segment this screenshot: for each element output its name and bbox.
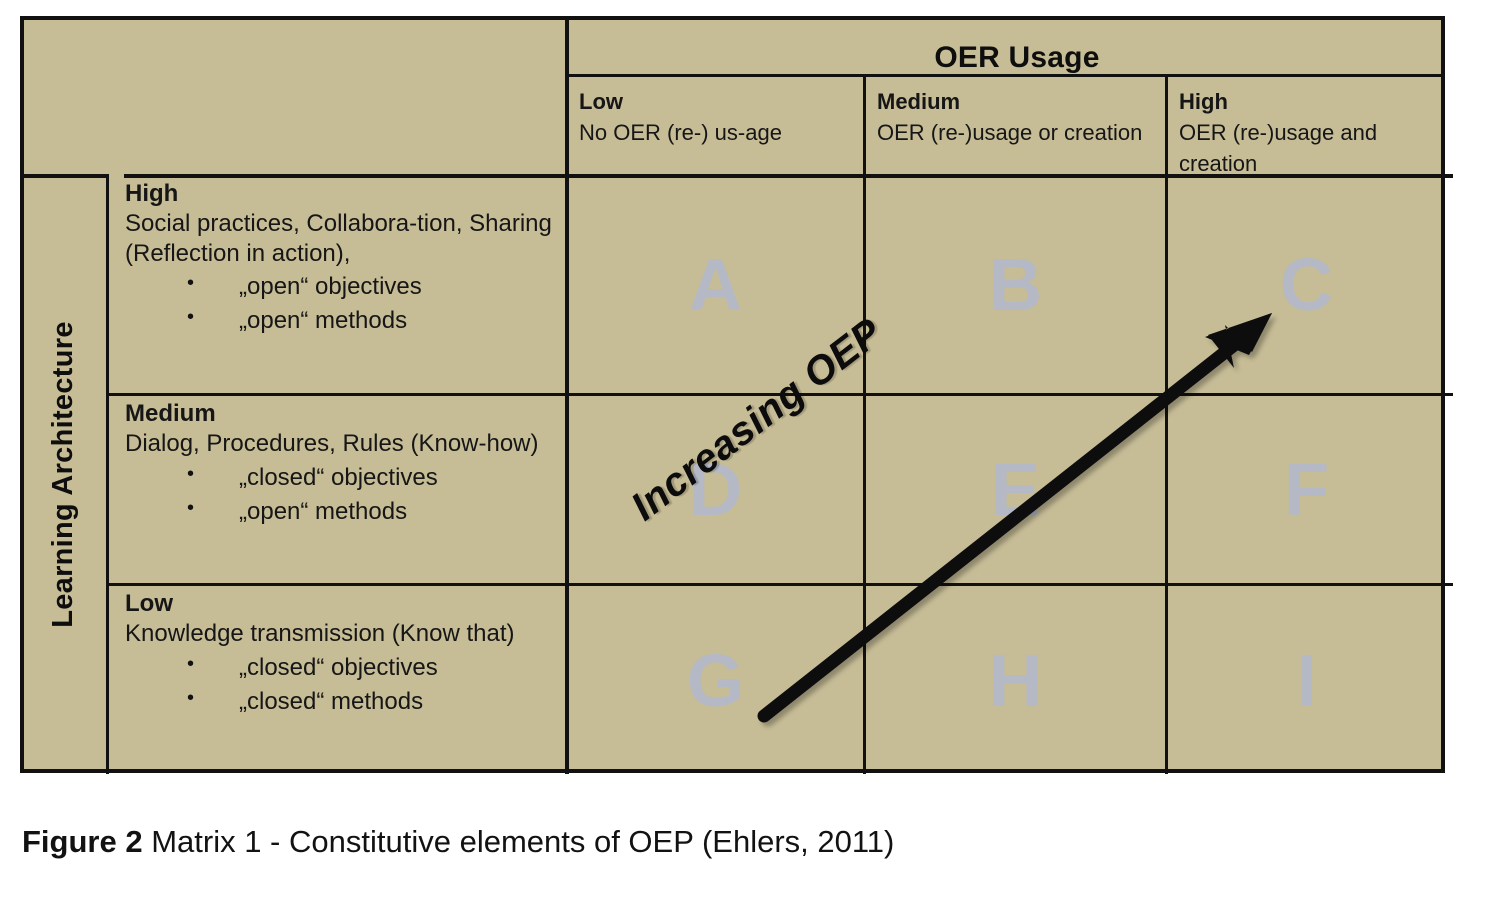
list-item: „open“ methods (187, 304, 559, 338)
row-header-medium-desc: Dialog, Procedures, Rules (Know-how) (125, 429, 559, 459)
column-header-medium: Medium OER (re-)usage or creation (867, 82, 1165, 188)
matrix-cell-F: F (1168, 396, 1445, 583)
list-item: „closed“ objectives (187, 461, 559, 495)
row-header-medium: Medium Dialog, Procedures, Rules (Know-h… (109, 396, 565, 529)
matrix-cell-C: C (1168, 176, 1445, 393)
rule-under-axis-title (565, 74, 1445, 77)
column-header-low-title: Low (579, 86, 858, 117)
list-item: „closed“ objectives (187, 651, 559, 685)
column-header-medium-title: Medium (877, 86, 1157, 117)
figure-caption-label: Figure 2 (22, 824, 143, 859)
row-header-high: High Social practices, Collabora-tion, S… (109, 176, 565, 338)
row-header-medium-bullets: „closed“ objectives „open“ methods (125, 461, 559, 529)
matrix-cell-G: G (568, 586, 863, 774)
figure-container: OER Usage Low No OER (re-) us-age Medium… (0, 0, 1488, 904)
row-header-high-title: High (125, 179, 559, 209)
row-header-low-desc: Knowledge transmission (Know that) (125, 619, 559, 649)
row-header-medium-title: Medium (125, 399, 559, 429)
figure-caption: Figure 2 Matrix 1 - Constitutive element… (22, 824, 894, 860)
column-header-high-desc: OER (re-)usage and creation (1179, 117, 1433, 179)
row-header-low: Low Knowledge transmission (Know that) „… (109, 586, 565, 719)
column-header-medium-desc: OER (re-)usage or creation (877, 117, 1157, 148)
column-header-high-title: High (1179, 86, 1433, 117)
column-header-high: High OER (re-)usage and creation (1169, 82, 1441, 188)
list-item: „open“ objectives (187, 270, 559, 304)
row-header-low-title: Low (125, 589, 559, 619)
column-axis-title: OER Usage (589, 38, 1445, 78)
column-header-low-desc: No OER (re-) us-age (579, 117, 858, 148)
oep-matrix-table: OER Usage Low No OER (re-) us-age Medium… (20, 16, 1445, 773)
row-header-high-desc: Social practices, Collabora-tion, Sharin… (125, 209, 559, 269)
list-item: „closed“ methods (187, 685, 559, 719)
row-header-low-bullets: „closed“ objectives „closed“ methods (125, 651, 559, 719)
row-axis-title-text: Learning Architecture (47, 321, 80, 628)
matrix-cell-E: E (866, 396, 1165, 583)
row-header-high-bullets: „open“ objectives „open“ methods (125, 270, 559, 338)
matrix-cell-H: H (866, 586, 1165, 774)
figure-caption-text: Matrix 1 - Constitutive elements of OEP … (143, 824, 895, 859)
column-header-low: Low No OER (re-) us-age (569, 82, 866, 188)
row-axis-title: Learning Architecture (20, 174, 106, 774)
list-item: „open“ methods (187, 495, 559, 529)
matrix-cell-I: I (1168, 586, 1445, 774)
matrix-cell-B: B (866, 176, 1165, 393)
